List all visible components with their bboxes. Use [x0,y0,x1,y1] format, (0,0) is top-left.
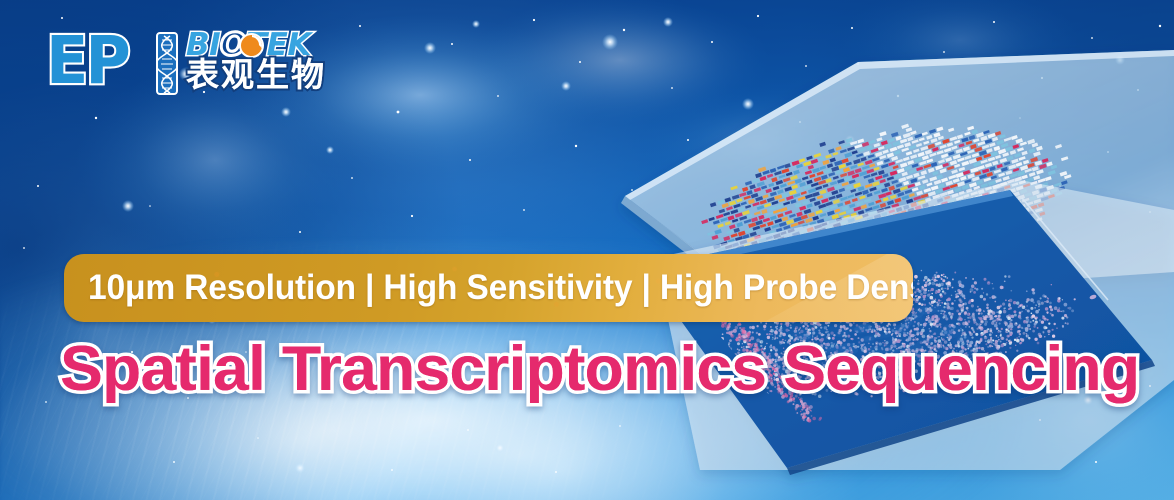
tagline-pill: 10μm Resolution | High Sensitivity | Hig… [64,254,913,322]
dna-helix-icon [156,32,178,95]
page-title: Spatial Transcriptomics Sequencing Spati… [60,333,1139,405]
promotional-banner: 10μm Resolution | High Sensitivity | Hig… [0,0,1174,500]
logo-chinese-fill: 表观生物 [186,58,326,91]
logo-wordmark-ep: EP [46,28,128,94]
brand-logo[interactable]: EP BIO [46,27,336,107]
tagline-text: 10μm Resolution | High Sensitivity | Hig… [64,268,913,308]
logo-chinese-name: 表观生物 表观生物 [186,58,326,91]
headline-fill: Spatial Transcriptomics Sequencing [60,333,1139,405]
